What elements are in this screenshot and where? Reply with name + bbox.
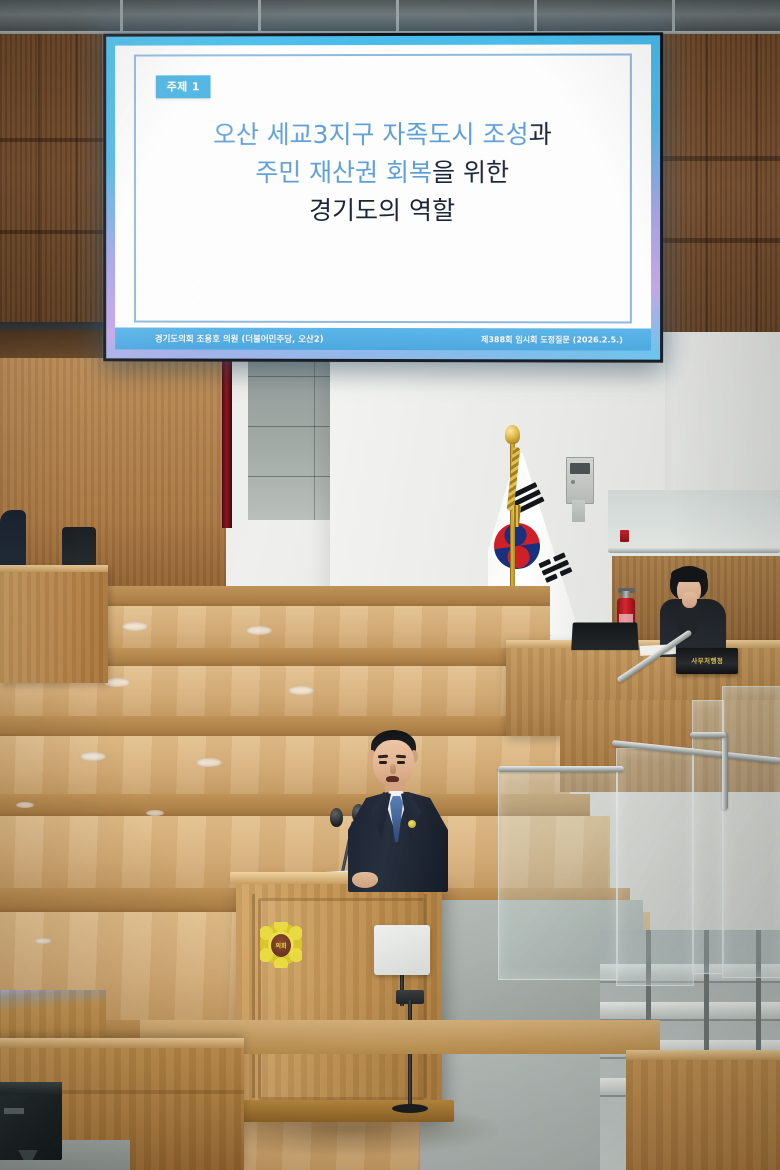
floor-microphone-stand [408,1000,412,1110]
slide-footer-speaker-info: 경기도의회 조용호 의원 (더불어민주당, 오산2) [155,333,324,345]
clerestory-window-band [0,0,780,36]
slide-title: 오산 세교3지구 자족도시 조성과 주민 재산권 회복을 위한 경기도의 역할 [140,116,626,230]
slide-footer-session-info: 제388회 임시회 도정질문 (2026.2.5.) [481,334,623,345]
left-attendee [0,510,26,572]
slide-topic-badge: 주제 1 [156,75,211,98]
slide-title-line-3: 경기도의 역할 [140,192,626,230]
speaker-hand [352,872,378,888]
floor-monitor-panel[interactable] [374,925,430,975]
handrail-post-right [722,732,728,810]
speaker-lapel-pin [408,820,416,828]
clerk-laptop[interactable] [571,623,639,651]
glass-panel-1 [498,768,618,980]
balcony-handrail [608,548,780,553]
chamber-photo-scene: 사무처행정 [0,0,780,1170]
glass-panel-2 [616,748,694,986]
equipment-road-case [0,1082,62,1160]
secondary-lectern-left[interactable] [0,565,108,683]
upper-wall-wood-panel-right [660,34,780,372]
clerk-fringe [671,567,707,582]
speaker-nose [390,764,396,774]
council-emblem: 의회 [260,922,302,968]
glass-balustrade [494,676,780,1006]
desk-nameplate-label: 사무처행정 [691,656,723,665]
floor-microphone-base [392,1104,428,1113]
slide-title-line-2: 주민 재산권 회복을 위한 [140,154,626,192]
speaking-member [340,730,458,892]
speaker-eye-right [397,761,405,764]
clerk-hand [682,592,697,608]
council-emblem-label: 의회 [271,934,291,957]
foreground-rail-right [626,1050,780,1170]
slide-title-line-1: 오산 세교3지구 자족도시 조성과 [140,116,626,154]
speaker-eye-left [379,761,387,764]
handrail-return [690,732,726,738]
handrail-lower[interactable] [498,766,624,772]
wall-sign-red-right [620,530,629,542]
glass-panel-4 [722,686,780,978]
presentation-slide: 주제 1 오산 세교3지구 자족도시 조성과 주민 재산권 회복을 위한 경기도… [106,35,660,359]
upper-wall-wood-panel-left [0,34,116,334]
flag-finial [505,425,520,444]
projection-screen: 주제 1 오산 세교3지구 자족도시 조성과 주민 재산권 회복을 위한 경기도… [103,32,663,362]
slide-footer-band: 경기도의회 조용호 의원 (더불어민주당, 오산2) 제388회 임시회 도정질… [115,327,651,350]
desk-nameplate: 사무처행정 [676,648,738,674]
glass-panel-3 [692,700,724,974]
